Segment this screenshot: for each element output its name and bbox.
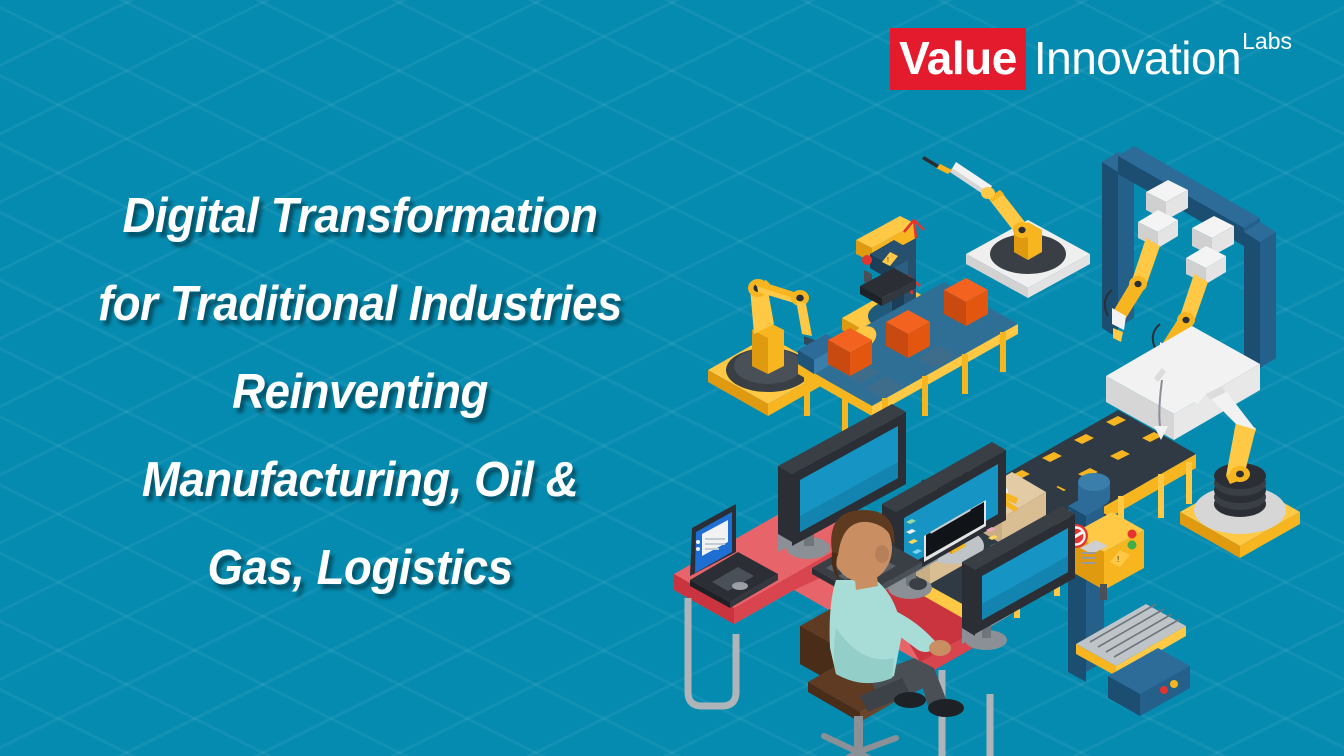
welding-robot (922, 156, 1090, 298)
svg-text:!: ! (887, 257, 889, 264)
logo-labs-superscript: Labs (1242, 30, 1292, 53)
brand-logo: Value Innovation Labs (890, 28, 1292, 90)
headline-line-5: Gas, Logistics (48, 524, 673, 612)
headline-line-3: Reinventing (48, 348, 673, 436)
svg-text:!: ! (1117, 555, 1119, 564)
headline-line-1: Digital Transformation (48, 172, 673, 260)
logo-innovation-text: Innovation (1026, 28, 1241, 90)
factory-illustration: ! (660, 120, 1344, 756)
logo-value-text: Value (890, 28, 1026, 90)
headline-line-4: Manufacturing, Oil & (48, 436, 673, 524)
operator-workstation (674, 404, 1075, 756)
headline-line-2: for Traditional Industries (48, 260, 673, 348)
page-title: Digital Transformation for Traditional I… (48, 172, 673, 612)
